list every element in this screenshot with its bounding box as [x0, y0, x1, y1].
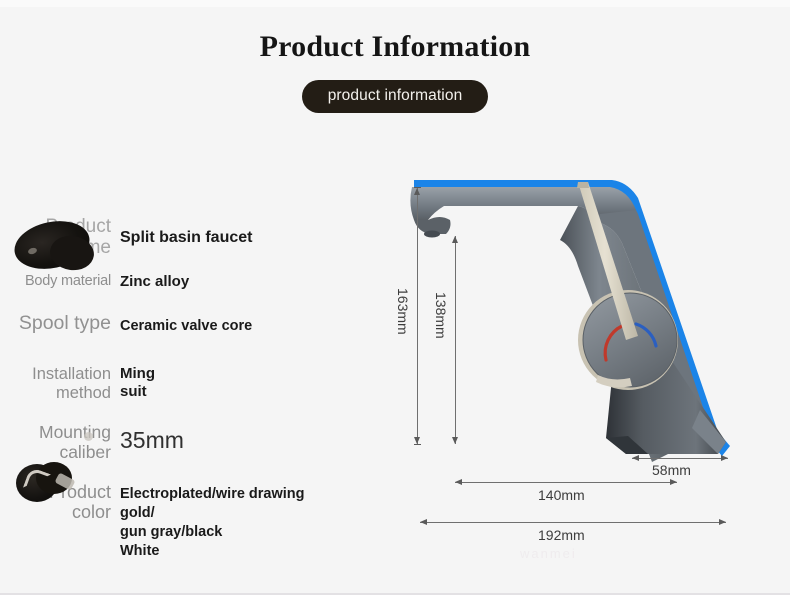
dimension-line-height-spout — [455, 236, 456, 444]
spec-label-spool-type: Spool type — [8, 310, 120, 335]
dimension-label-spout-reach: 140mm — [538, 487, 585, 503]
arrow-spout-reach-right — [670, 479, 677, 485]
tick-height-total-bottom — [414, 444, 421, 445]
product-information-page: Product Information product information … — [0, 0, 790, 595]
spec-value-product-name: Split basin faucet — [120, 214, 318, 248]
product-illustration — [400, 170, 780, 560]
page-title: Product Information — [0, 30, 790, 64]
spec-value-spool-type: Ceramic valve core — [120, 310, 318, 336]
dimension-line-width-total — [420, 522, 726, 523]
arrow-base-depth-left — [632, 455, 639, 461]
arrow-height-total-top — [414, 188, 420, 195]
spec-value-installation-method: Mingsuit — [120, 363, 318, 402]
spec-value-product-color: Electroplated/wire drawing gold/gun gray… — [120, 477, 318, 562]
dimension-label-height-total: 163mm — [395, 288, 411, 335]
badge-container: product information — [0, 80, 790, 113]
spec-row-mounting-caliber: Mountingcaliber 35mm — [8, 420, 318, 468]
watermark: wanmei — [520, 546, 577, 561]
arrow-height-total-bottom — [414, 437, 420, 444]
spec-row-body-material: Body material Zinc alloy — [8, 269, 318, 301]
spec-row-product-name: ProductName Split basin faucet — [8, 214, 318, 260]
overlay-artifact-speck — [84, 432, 93, 441]
spec-label-product-name: ProductName — [8, 214, 120, 259]
arrow-base-depth-right — [721, 455, 728, 461]
spec-label-body-material: Body material — [8, 269, 120, 290]
lever-handle-tip — [577, 182, 589, 188]
product-information-badge: product information — [302, 80, 489, 113]
specification-table: ProductName Split basin faucet Body mate… — [8, 214, 318, 556]
spec-value-body-material: Zinc alloy — [120, 269, 318, 291]
faucet-drawing — [400, 170, 780, 560]
spec-row-spool-type: Spool type Ceramic valve core — [8, 310, 318, 354]
dimension-line-spout-reach — [455, 482, 677, 483]
arrow-height-spout-bottom — [452, 437, 458, 444]
dimension-line-base-depth — [632, 458, 728, 459]
dimension-label-width-total: 192mm — [538, 527, 585, 543]
arrow-spout-reach-left — [455, 479, 462, 485]
arrow-width-total-left — [420, 519, 427, 525]
aerator-icon — [424, 231, 440, 238]
top-edge-band — [0, 0, 790, 7]
spec-row-installation-method: Installationmethod Mingsuit — [8, 363, 318, 411]
arrow-height-spout-top — [452, 236, 458, 243]
arrow-width-total-right — [719, 519, 726, 525]
spec-value-mounting-caliber: 35mm — [120, 420, 318, 454]
dimension-label-height-spout: 138mm — [433, 292, 449, 339]
spec-row-product-color: Productcolor Electroplated/wire drawing … — [8, 477, 318, 547]
spec-label-mounting-caliber: Mountingcaliber — [8, 420, 120, 463]
dimension-label-base-depth: 58mm — [652, 462, 691, 478]
spec-label-installation-method: Installationmethod — [8, 363, 120, 403]
dimension-line-height-total — [417, 188, 418, 444]
